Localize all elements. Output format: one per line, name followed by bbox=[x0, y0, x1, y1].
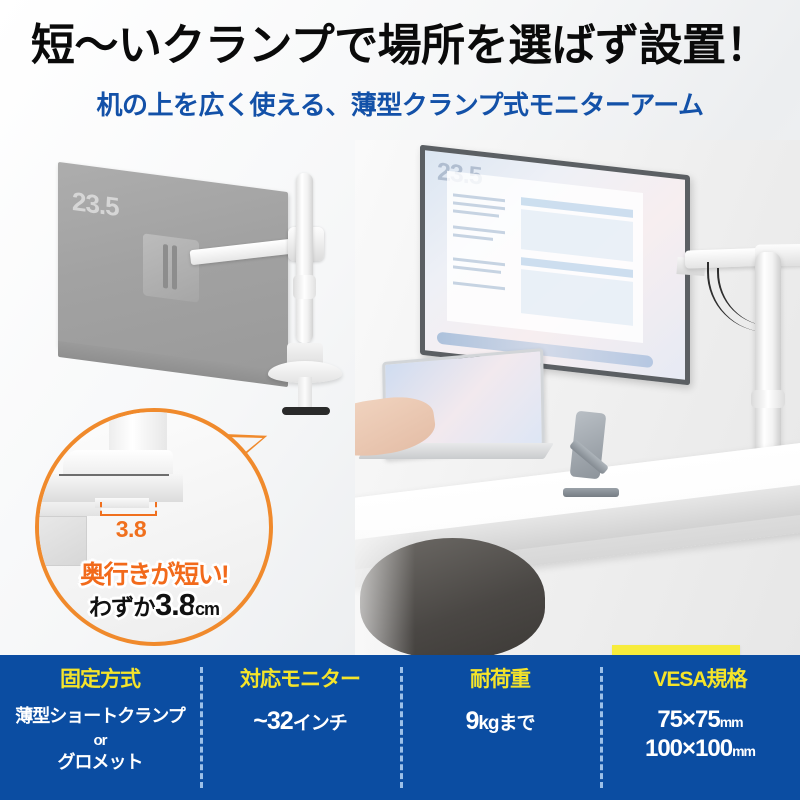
spec-mounting-line1: 薄型ショートクランプ bbox=[15, 706, 184, 726]
spec-load-number: 9 bbox=[465, 707, 478, 735]
monitor-size-label: 23.5 bbox=[72, 186, 119, 223]
desk-underside bbox=[35, 502, 101, 516]
spec-header-monitor-size: 対応モニター bbox=[240, 668, 360, 691]
spec-mounting-line3: グロメット bbox=[58, 752, 143, 772]
spec-column-load-capacity: 耐荷重 9kgまで bbox=[400, 655, 600, 800]
spec-value-monitor-size: ~32インチ bbox=[253, 705, 346, 737]
clamp-lower-jaw bbox=[95, 498, 149, 508]
vesa-mount-plate-icon bbox=[143, 233, 199, 302]
advertisement-page: 短〜いクランプで場所を選ばず設置！ 机の上を広く使える、薄型クランプ式モニターア… bbox=[0, 0, 800, 800]
spec-load-suffix: まで bbox=[499, 713, 535, 734]
desk-seam-line bbox=[59, 474, 169, 476]
spec-value-load-capacity: 9kgまで bbox=[465, 705, 534, 737]
spec-vesa-100-unit: mm bbox=[732, 743, 755, 759]
spec-monitor-size-number: ~32 bbox=[253, 707, 292, 735]
page-title: 短〜いクランプで場所を選ばず設置！ bbox=[0, 24, 800, 68]
callout-bubble: 3.8 奥行きが短い! わずか3.8cm bbox=[35, 408, 273, 646]
spec-header-load-capacity: 耐荷重 bbox=[470, 668, 530, 691]
spec-column-vesa: VESA規格 75×75mm 100×100mm bbox=[600, 655, 800, 800]
spec-vesa-75: 75×75 bbox=[657, 706, 719, 733]
lifestyle-photo-desk-setup: 23.5 bbox=[355, 140, 800, 655]
callout-title: 奥行きが短い! bbox=[39, 555, 269, 591]
screen-document-content bbox=[447, 171, 643, 343]
callout-subtitle: わずか3.8cm bbox=[39, 587, 269, 623]
spec-value-vesa: 75×75mm 100×100mm bbox=[645, 705, 755, 764]
spec-column-mounting: 固定方式 薄型ショートクランプ or グロメット bbox=[0, 655, 200, 800]
callout-sub-number: 3.8 bbox=[155, 587, 195, 622]
spec-value-mounting: 薄型ショートクランプ or グロメット bbox=[15, 705, 184, 774]
product-photo-monitor-arm: 23.5 bbox=[40, 155, 360, 415]
monitor-screen: 23.5 bbox=[420, 145, 690, 386]
spec-header-vesa: VESA規格 bbox=[653, 668, 746, 691]
header-section: 短〜いクランプで場所を選ばず設置！ 机の上を広く使える、薄型クランプ式モニターア… bbox=[0, 0, 800, 140]
spec-mounting-line2: or bbox=[94, 732, 107, 749]
callout-sub-unit: cm bbox=[195, 599, 219, 619]
clamp-pad bbox=[282, 407, 330, 415]
spec-load-unit: kg bbox=[478, 713, 498, 734]
photo-stage: 23.5 23.5 bbox=[0, 140, 800, 655]
stool-fade-overlay bbox=[355, 530, 415, 655]
clamp-stem bbox=[298, 377, 312, 411]
dimension-value: 3.8 bbox=[105, 516, 157, 543]
spec-bar: 固定方式 薄型ショートクランプ or グロメット 対応モニター ~32インチ 耐… bbox=[0, 655, 800, 800]
spec-header-mounting: 固定方式 bbox=[60, 668, 140, 691]
spec-monitor-size-unit: インチ bbox=[293, 713, 347, 734]
tablet-stand-foot bbox=[563, 488, 619, 497]
pole-cable-clip bbox=[751, 390, 785, 408]
page-subtitle: 机の上を広く使える、薄型クランプ式モニターアーム bbox=[0, 92, 800, 118]
spec-column-monitor-size: 対応モニター ~32インチ bbox=[200, 655, 400, 800]
tablet-stand bbox=[563, 412, 615, 498]
pole-collar bbox=[293, 275, 316, 299]
long-arm-badge: 1画面 ロング アーム bbox=[612, 645, 740, 655]
spec-vesa-100: 100×100 bbox=[645, 735, 732, 762]
spec-vesa-75-unit: mm bbox=[720, 714, 743, 730]
callout-sub-prefix: わずか bbox=[89, 594, 155, 620]
arm-pole bbox=[296, 173, 313, 343]
